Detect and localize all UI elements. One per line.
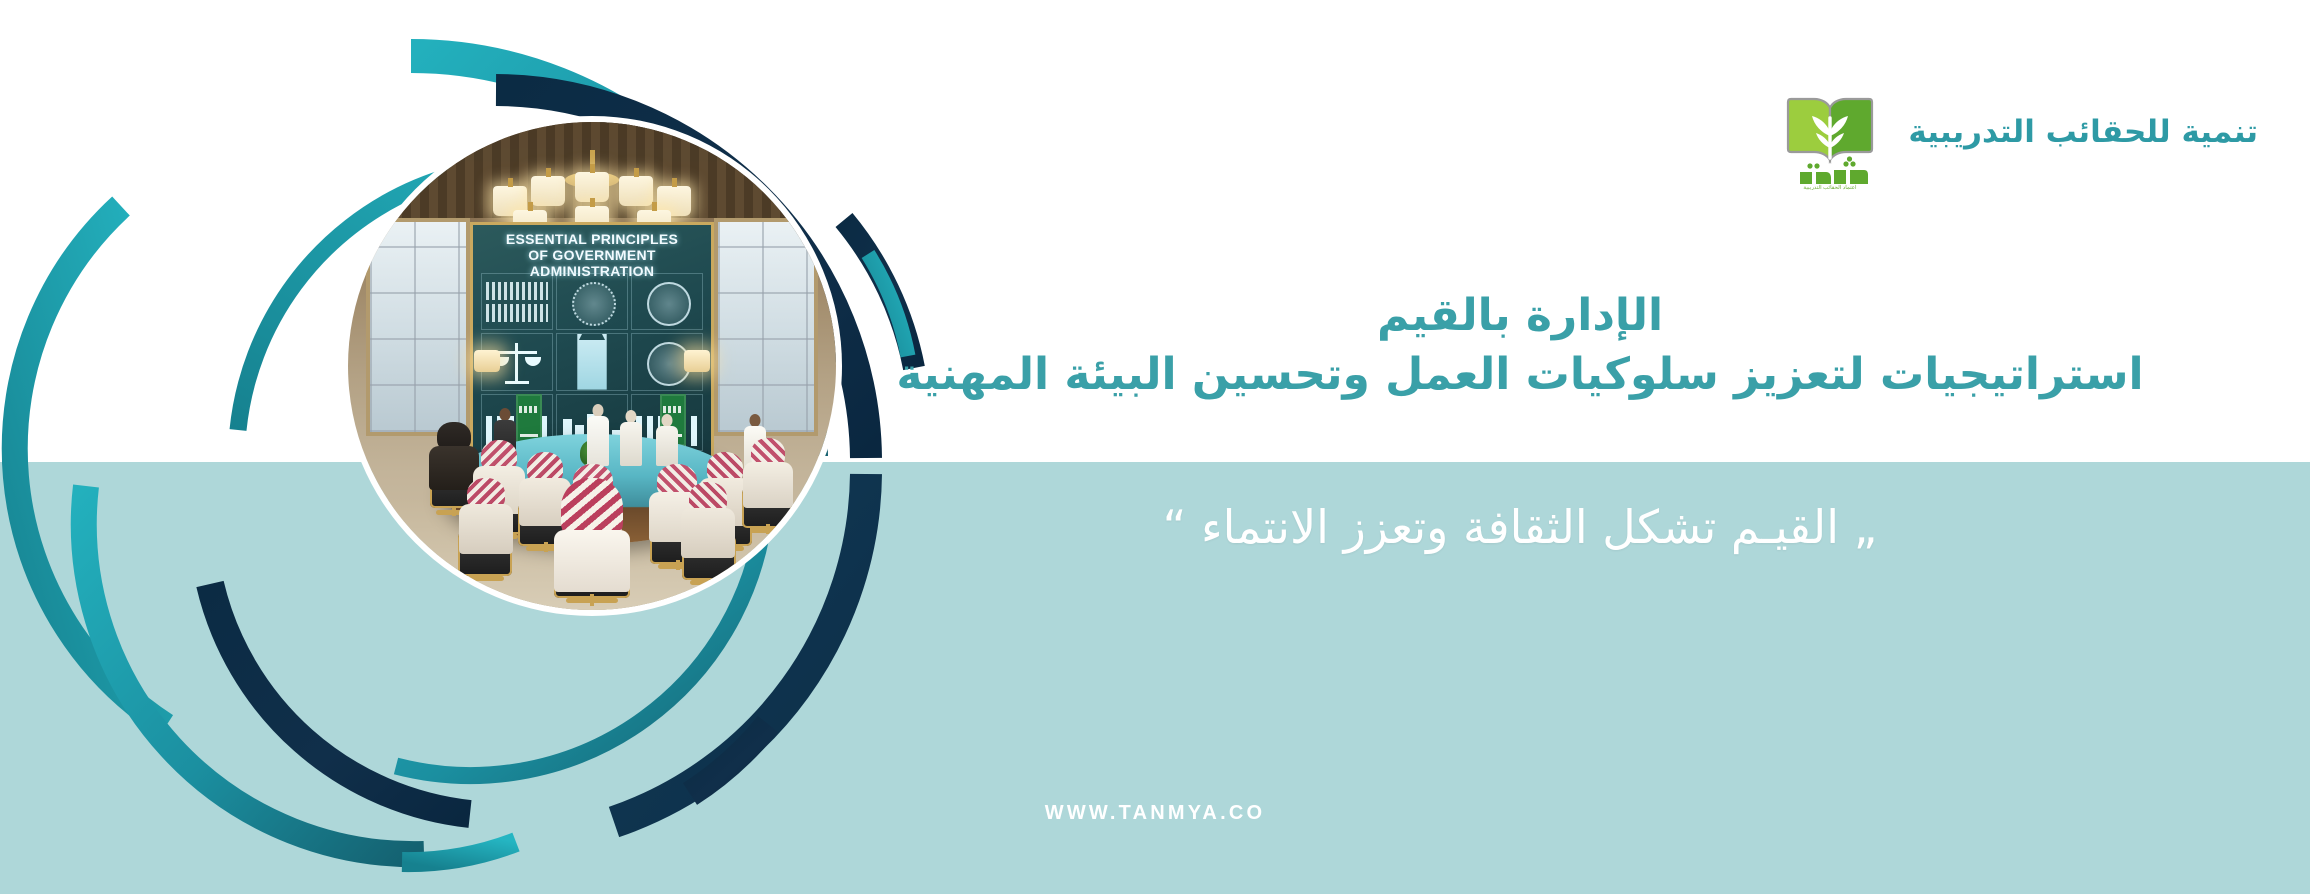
wall-sconce-right	[684, 350, 710, 372]
screen-cell-seal-1	[631, 273, 703, 330]
standing-person-right-a	[620, 410, 642, 466]
logo-tagline: اعتماد الحقائب التدريبية	[1804, 184, 1858, 190]
standing-person-right-b	[656, 414, 678, 466]
seated-person-9	[678, 482, 738, 584]
screen-headline-line1: ESSENTIAL PRINCIPLES	[473, 231, 711, 247]
hero-photo-image: ESSENTIAL PRINCIPLES OF GOVERNMENT ADMIN…	[348, 122, 836, 610]
screen-cell-tower	[556, 333, 628, 390]
seated-person-8	[456, 478, 516, 580]
website-url[interactable]: WWW.TANMYA.CO	[0, 802, 2310, 825]
title-block: الإدارة بالقيم استراتيجيات لتعزيز سلوكيا…	[790, 288, 2250, 402]
brand-lockup: تنمية للحقائب التدريبية	[1770, 74, 2258, 190]
screen-cell-flag-script	[481, 273, 553, 330]
course-title-main: الإدارة بالقيم	[790, 288, 2250, 343]
wall-sconce-left	[474, 350, 500, 372]
standing-person-center	[586, 404, 610, 466]
banner-root: ESSENTIAL PRINCIPLES OF GOVERNMENT ADMIN…	[0, 0, 2310, 894]
brand-name: تنمية للحقائب التدريبية	[1908, 114, 2258, 150]
seated-person-center-front	[544, 478, 640, 606]
hero-photo-circle: ESSENTIAL PRINCIPLES OF GOVERNMENT ADMIN…	[348, 122, 836, 610]
seated-person-7	[740, 438, 796, 534]
open-book-sprout-logo-icon: اعتماد الحقائب التدريبية	[1770, 74, 1890, 190]
tagline-quote: „ القيـم تشكل الثقافة وتعزز الانتماء “	[790, 500, 2250, 554]
screen-cell-emblem	[556, 273, 628, 330]
course-title-sub: استراتيجيات لتعزيز سلوكيات العمل وتحسين …	[790, 347, 2250, 402]
arc-bottom-right-navy-dash	[690, 724, 768, 794]
window-left	[366, 218, 470, 436]
